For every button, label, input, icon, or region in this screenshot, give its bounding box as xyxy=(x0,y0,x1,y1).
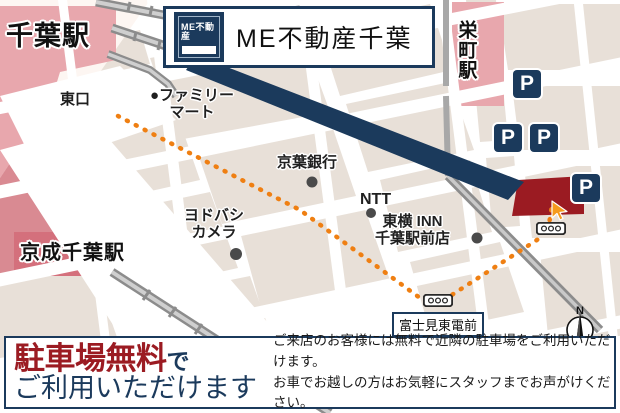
parking-icon-4: P xyxy=(572,174,600,202)
poi-ntt: NTT xyxy=(360,191,391,209)
banner-headline-line2: ご利用いただけます xyxy=(14,375,257,403)
parking-icon-2: P xyxy=(494,124,522,152)
banner-headline-strong: 駐車場無料 xyxy=(14,341,167,376)
poi-toyoko-inn-line2: 千葉駅前店 xyxy=(375,231,450,248)
poi-ntt-line1: NTT xyxy=(360,191,391,209)
company-logo-mark-inner: ME不動産 xyxy=(178,16,220,58)
poi-east-exit: 東口 xyxy=(60,92,90,109)
poi-toyoko-inn-line1: 東横 INN xyxy=(375,214,450,231)
location-cursor-icon xyxy=(550,200,570,222)
poi-yodobashi-line1: ヨドバシ xyxy=(184,208,244,225)
parking-icon-3-label: P xyxy=(537,126,551,150)
parking-icon-4-label: P xyxy=(579,176,593,200)
banner-body: ご来店のお客様には無料で近隣の駐車場をご利用いただけます。 お車でお越しの方はお… xyxy=(263,331,614,413)
poi-familymart-line2: マート xyxy=(150,105,234,122)
banner-headline: 駐車場無料で ご利用いただけます xyxy=(6,343,263,403)
traffic-signal-icon-1 xyxy=(536,222,566,235)
parking-free-banner: 駐車場無料で ご利用いただけます ご来店のお客様には無料で近隣の駐車場をご利用い… xyxy=(4,336,616,409)
banner-headline-line1: 駐車場無料で xyxy=(14,343,257,375)
company-callout-title: ME不動産千葉 xyxy=(236,19,413,55)
poi-toyoko-inn: 東横 INN 千葉駅前店 xyxy=(375,214,450,248)
banner-headline-tail: で xyxy=(167,348,190,374)
poi-familymart-line1: ●ファミリー xyxy=(150,88,234,105)
poi-yodobashi-line2: カメラ xyxy=(184,225,244,242)
parking-icon-1-label: P xyxy=(520,72,534,96)
traffic-signal-icon-2 xyxy=(423,294,453,307)
parking-icon-2-label: P xyxy=(501,126,515,150)
poi-keiyo-bank-line1: 京葉銀行 xyxy=(277,155,337,172)
parking-icon-1: P xyxy=(513,70,541,98)
parking-icon-3: P xyxy=(530,124,558,152)
station-label-keisei-chiba: 京成千葉駅 xyxy=(20,236,125,265)
banner-body-line2: お車でお越しの方はお気軽にスタッフまでお声がけください。 xyxy=(273,373,614,413)
company-logo-mark-text: ME不動産 xyxy=(181,23,217,41)
company-callout-box: ME不動産 ME不動産千葉 xyxy=(163,6,435,68)
company-logo-mark-bar xyxy=(182,46,216,54)
access-map-figure: 千葉駅 京成千葉駅 栄町駅 東口 ●ファミリー マート 京葉銀行 ヨドバシ カメ… xyxy=(0,0,620,413)
poi-familymart: ●ファミリー マート xyxy=(150,88,234,122)
station-label-sakaecho: 栄町駅 xyxy=(456,20,475,80)
poi-yodobashi-camera: ヨドバシ カメラ xyxy=(184,208,244,242)
banner-body-line1: ご来店のお客様には無料で近隣の駐車場をご利用いただけます。 xyxy=(273,331,614,373)
company-logo-mark: ME不動産 xyxy=(174,12,224,62)
poi-keiyo-bank: 京葉銀行 xyxy=(277,155,337,172)
station-label-chiba: 千葉駅 xyxy=(6,14,90,53)
